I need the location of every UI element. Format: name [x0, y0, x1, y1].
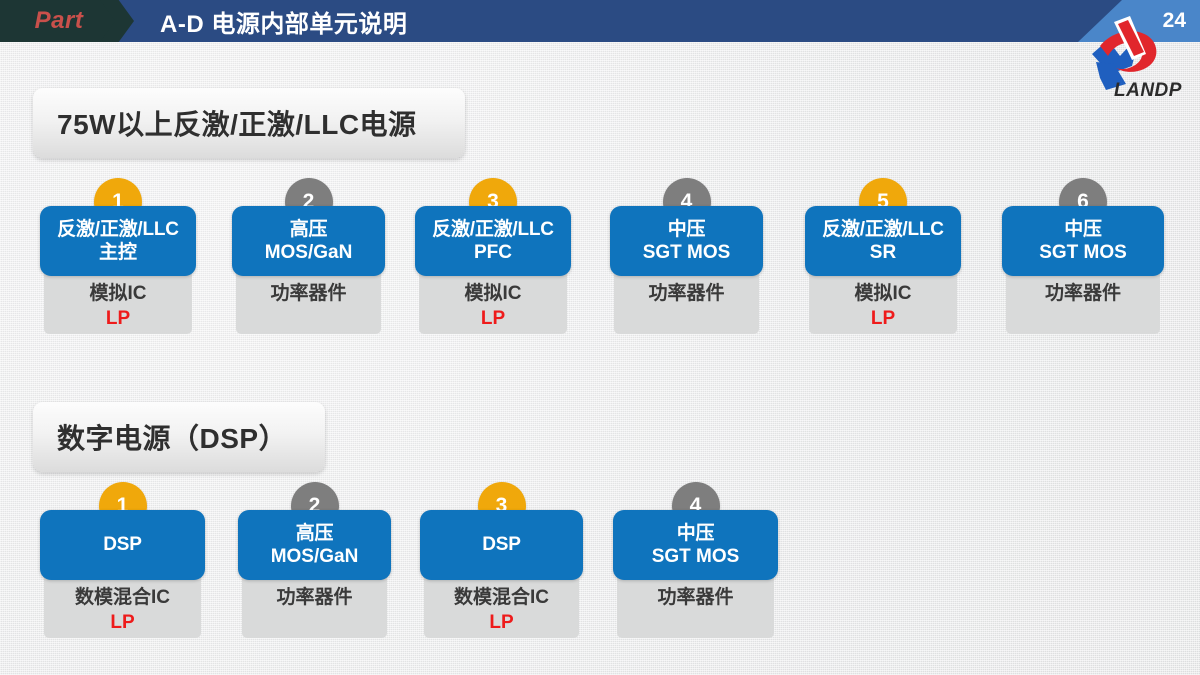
unit-blue-box: DSP [40, 510, 205, 580]
unit-blue-box: 中压 SGT MOS [613, 510, 778, 580]
header-part-block: Part [0, 0, 118, 42]
unit-blue-box: 中压 SGT MOS [1002, 206, 1164, 276]
unit-line-2: SGT MOS [643, 241, 731, 264]
unit-line-2: SGT MOS [1039, 241, 1127, 264]
unit-sub-box: 模拟IC LP [44, 272, 192, 334]
unit-line-1: 反激/正激/LLC [432, 218, 554, 241]
unit-blue-box: 反激/正激/LLC SR [805, 206, 961, 276]
unit-card[interactable]: 4 中压 SGT MOS 功率器件 [610, 178, 763, 338]
unit-line-2: MOS/GaN [265, 241, 353, 264]
unit-sub-label: 功率器件 [1045, 282, 1121, 306]
unit-card[interactable]: 6 中压 SGT MOS 功率器件 [1002, 178, 1164, 338]
unit-sub-box: 功率器件 [614, 272, 759, 334]
unit-blue-box: DSP [420, 510, 583, 580]
unit-card[interactable]: 3 DSP 数模混合IC LP [420, 482, 583, 642]
unit-line-1: 中压 [1064, 218, 1102, 241]
landp-logo-text: LANDP [1114, 80, 1182, 102]
unit-sub-label: 数模混合IC [75, 586, 170, 610]
unit-sub-label: 模拟IC [854, 282, 911, 306]
unit-line-2: 主控 [99, 241, 137, 264]
unit-card[interactable]: 2 高压 MOS/GaN 功率器件 [238, 482, 391, 642]
section-title-plate-2: 数字电源（DSP） [33, 402, 325, 472]
unit-line-1: 中压 [668, 218, 706, 241]
unit-line-2: SGT MOS [652, 545, 740, 568]
unit-line-1: DSP [482, 533, 520, 556]
unit-line-1: 反激/正激/LLC [822, 218, 944, 241]
section-title-2: 数字电源（DSP） [57, 417, 287, 457]
section-title-1: 75W以上反激/正激/LLC电源 [57, 103, 417, 143]
unit-line-1: DSP [103, 533, 141, 556]
slide-header: Part A-D 电源内部单元说明 24 [0, 0, 1200, 42]
section-title-plate-1: 75W以上反激/正激/LLC电源 [33, 88, 465, 158]
unit-sub-box: 功率器件 [242, 576, 387, 638]
unit-blue-box: 高压 MOS/GaN [232, 206, 385, 276]
unit-sub-tag: LP [489, 611, 513, 635]
unit-sub-tag: LP [481, 307, 505, 331]
unit-sub-box: 功率器件 [1006, 272, 1160, 334]
unit-card[interactable]: 5 反激/正激/LLC SR 模拟IC LP [805, 178, 961, 338]
unit-sub-tag: LP [871, 307, 895, 331]
unit-sub-box: 数模混合IC LP [44, 576, 201, 638]
unit-sub-tag: LP [106, 307, 130, 331]
unit-blue-box: 中压 SGT MOS [610, 206, 763, 276]
unit-sub-label: 模拟IC [464, 282, 521, 306]
unit-card[interactable]: 3 反激/正激/LLC PFC 模拟IC LP [415, 178, 571, 338]
unit-sub-label: 功率器件 [648, 282, 724, 306]
unit-blue-box: 反激/正激/LLC 主控 [40, 206, 196, 276]
unit-line-2: MOS/GaN [271, 545, 359, 568]
unit-card[interactable]: 1 反激/正激/LLC 主控 模拟IC LP [40, 178, 196, 338]
unit-sub-box: 功率器件 [236, 272, 381, 334]
unit-blue-box: 反激/正激/LLC PFC [415, 206, 571, 276]
page-title: A-D 电源内部单元说明 [160, 0, 407, 42]
unit-card[interactable]: 2 高压 MOS/GaN 功率器件 [232, 178, 385, 338]
unit-sub-label: 功率器件 [657, 586, 733, 610]
unit-sub-box: 模拟IC LP [419, 272, 567, 334]
unit-line-2: SR [870, 241, 896, 264]
unit-line-1: 高压 [296, 522, 334, 545]
unit-blue-box: 高压 MOS/GaN [238, 510, 391, 580]
unit-card[interactable]: 4 中压 SGT MOS 功率器件 [613, 482, 778, 642]
landp-logo: LANDP [1070, 12, 1200, 107]
unit-sub-box: 功率器件 [617, 576, 774, 638]
unit-line-1: 高压 [290, 218, 328, 241]
unit-sub-box: 模拟IC LP [809, 272, 957, 334]
unit-sub-tag: LP [110, 611, 134, 635]
unit-line-1: 反激/正激/LLC [57, 218, 179, 241]
unit-sub-label: 模拟IC [89, 282, 146, 306]
unit-sub-label: 功率器件 [276, 586, 352, 610]
unit-sub-label: 功率器件 [270, 282, 346, 306]
unit-line-2: PFC [474, 241, 512, 264]
unit-line-1: 中压 [677, 522, 715, 545]
unit-sub-label: 数模混合IC [454, 586, 549, 610]
unit-card[interactable]: 1 DSP 数模混合IC LP [40, 482, 205, 642]
unit-sub-box: 数模混合IC LP [424, 576, 579, 638]
header-part-label: Part [35, 7, 84, 35]
